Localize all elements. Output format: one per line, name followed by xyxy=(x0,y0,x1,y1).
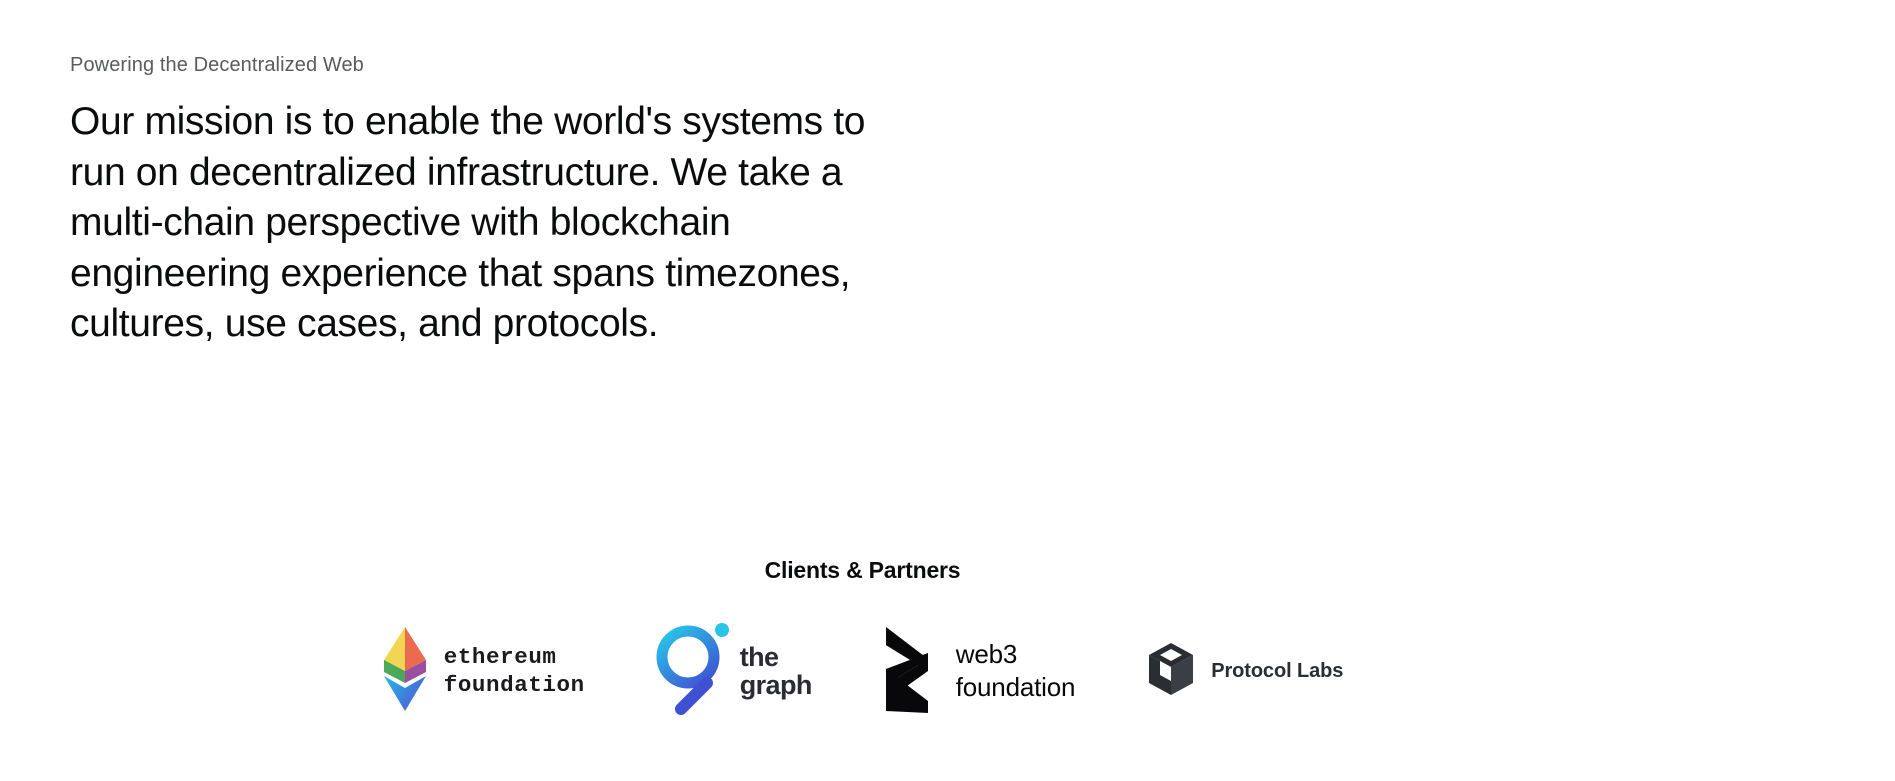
partner-logo-ethereum-foundation[interactable]: ethereum foundation xyxy=(382,623,585,719)
ethereum-diamond-icon xyxy=(382,625,428,718)
tg-line-1: the xyxy=(740,643,812,671)
ef-line-1: ethereum xyxy=(444,643,585,671)
tg-line-2: graph xyxy=(740,671,812,699)
partner-logo-the-graph[interactable]: the graph xyxy=(655,623,812,719)
graph-ring-icon xyxy=(655,621,731,722)
partner-logo-protocol-labs[interactable]: Protocol Labs xyxy=(1145,623,1343,719)
section-eyebrow: Powering the Decentralized Web xyxy=(70,52,910,78)
clients-and-partners-section: Clients & Partners xyxy=(0,555,1895,719)
web3-foundation-wordmark: web3 foundation xyxy=(956,638,1075,704)
protocol-labs-wordmark: Protocol Labs xyxy=(1211,660,1343,683)
w3-line-1: web3 xyxy=(956,638,1075,671)
mission-section: Powering the Decentralized Web Our missi… xyxy=(70,52,910,350)
mission-heading: Our mission is to enable the world's sys… xyxy=(70,97,880,350)
partner-logo-row: ethereum foundation xyxy=(0,623,1895,719)
web3-chevron-icon xyxy=(882,623,936,720)
mission-and-partners-page: Powering the Decentralized Web Our missi… xyxy=(0,0,1895,781)
w3-line-2: foundation xyxy=(956,671,1075,704)
partner-logo-web3-foundation[interactable]: web3 foundation xyxy=(882,623,1075,719)
ethereum-foundation-wordmark: ethereum foundation xyxy=(444,643,585,699)
partners-title: Clients & Partners xyxy=(0,555,1895,585)
the-graph-wordmark: the graph xyxy=(740,643,812,699)
protocol-labs-cube-icon xyxy=(1145,641,1197,702)
ef-line-2: foundation xyxy=(444,671,585,699)
